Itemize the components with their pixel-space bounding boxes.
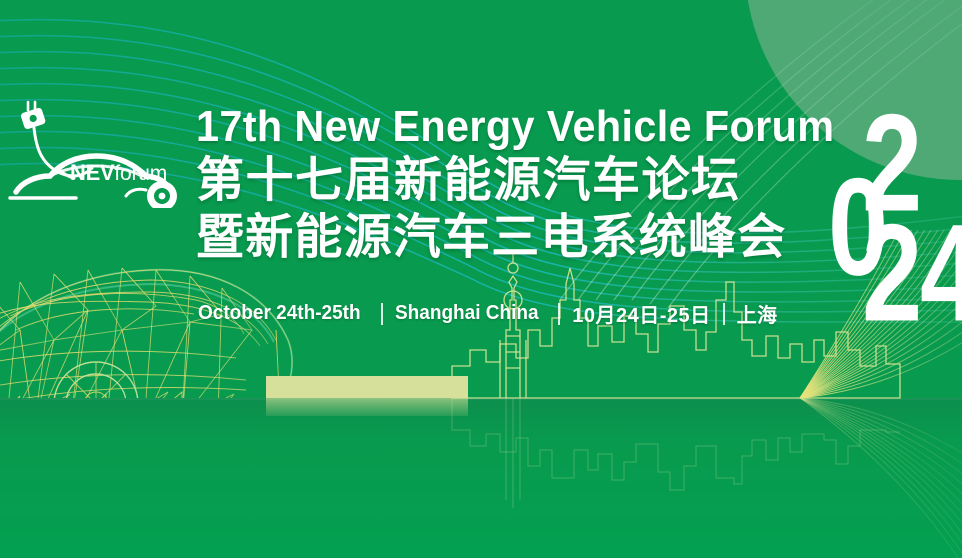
meta-separator-1 [381, 303, 383, 325]
meta-separator-3 [723, 303, 725, 325]
year-digit-3: 2 [862, 204, 922, 343]
horizon-line [0, 398, 962, 400]
logo-brand-forum: forum [114, 162, 167, 185]
title-chinese-line1: 第十七届新能源汽车论坛 [196, 152, 846, 209]
event-location-en: Shanghai China [395, 302, 539, 325]
conference-banner: NEVforum 17th New Energy Vehicle Forum 第… [0, 0, 962, 558]
nev-forum-logo[interactable]: NEVforum [6, 78, 186, 208]
event-date-cn: 10月24日-25日 [572, 299, 710, 328]
ground-platform-reflection [266, 398, 468, 416]
title-chinese-line2: 暨新能源汽车三电系统峰会 [196, 209, 846, 266]
year-digit-4: 4 [920, 204, 962, 343]
meta-separator-2 [558, 303, 560, 325]
ground-platform-bar [266, 376, 468, 398]
event-meta-line: October 24th-25th Shanghai China 10月24日-… [198, 299, 778, 328]
event-date-en: October 24th-25th [198, 302, 361, 325]
title-block: 17th New Energy Vehicle Forum 第十七届新能源汽车论… [196, 102, 846, 266]
year-2024-graphic: 2 0 2 4 [842, 108, 962, 320]
reflection-floor [0, 398, 962, 558]
event-location-cn: 上海 [737, 299, 778, 328]
logo-brand-nev: NEV [70, 160, 114, 185]
title-english: 17th New Energy Vehicle Forum [196, 102, 807, 152]
